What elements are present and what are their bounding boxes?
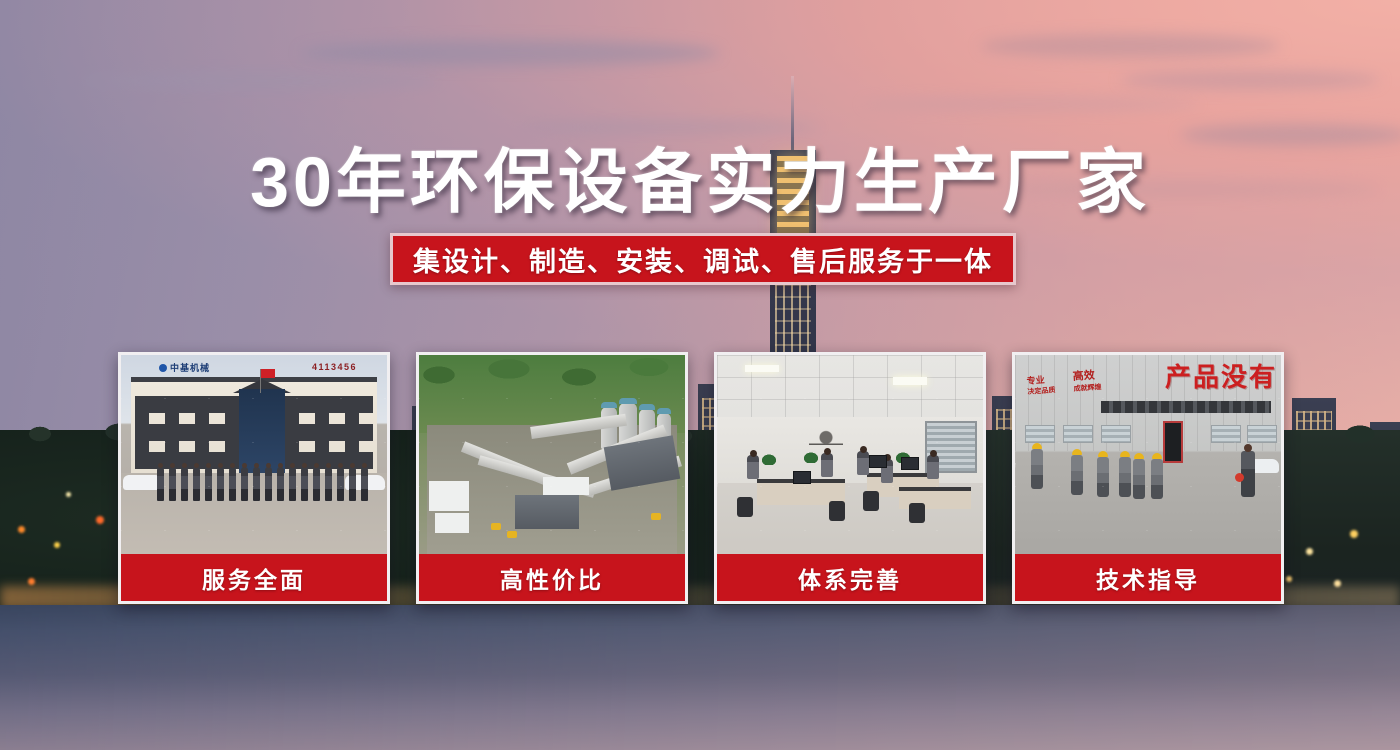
factory-window — [1101, 425, 1131, 443]
page-title: 30年环保设备实力生产厂家 — [0, 126, 1400, 227]
hard-hat-icon — [1152, 453, 1162, 459]
feature-card-system[interactable]: 体系完善 — [714, 352, 986, 604]
slogan-mid-main: 高效 — [1072, 369, 1095, 383]
potted-plant — [759, 449, 779, 465]
staff-lineup — [157, 467, 368, 501]
wall-slogan-mid: 高效 成就辉煌 — [1072, 366, 1102, 394]
factory-window — [1247, 425, 1277, 443]
worker — [1133, 459, 1145, 499]
worker — [1151, 459, 1163, 499]
cloud — [980, 34, 1280, 58]
photo-company-building: 中基机械 4113456 — [121, 355, 387, 554]
factory-door — [1163, 421, 1183, 463]
head — [1244, 444, 1252, 452]
excavator — [507, 531, 517, 538]
feature-card-value[interactable]: 高性价比 — [416, 352, 688, 604]
phone-number-text: 4113456 — [312, 362, 357, 372]
potted-plant — [801, 447, 821, 463]
factory-window — [1063, 425, 1093, 443]
plant-shed — [515, 495, 579, 529]
cloud — [80, 72, 440, 90]
company-sign-text: 中基机械 — [170, 361, 210, 374]
river-water — [0, 605, 1400, 750]
chair — [737, 497, 753, 517]
photo-production-plant — [419, 355, 685, 554]
card-caption: 体系完善 — [717, 554, 983, 601]
worker — [1071, 455, 1083, 495]
monitor — [793, 471, 811, 484]
card-caption: 服务全面 — [121, 554, 387, 601]
factory-window — [1211, 425, 1241, 443]
employee — [821, 453, 833, 477]
worker — [1097, 457, 1109, 497]
employee — [857, 451, 869, 475]
slogan-mid-sub: 成就辉煌 — [1073, 382, 1102, 394]
feature-card-list: 中基机械 4113456 服务全面 — [118, 352, 1284, 604]
worker — [1031, 449, 1043, 489]
card-caption: 高性价比 — [419, 554, 685, 601]
employee — [747, 455, 759, 479]
photo-office-interior — [717, 355, 983, 554]
photo-worker-briefing: 产品没有 专业 决定品质 高效 成就辉煌 — [1015, 355, 1281, 554]
factory-window — [1025, 425, 1055, 443]
supervisor — [1241, 451, 1255, 497]
ceiling-light — [893, 377, 927, 385]
promo-banner: 30年环保设备实力生产厂家 集设计、制造、安装、调试、售后服务于一体 中基机械 … — [0, 0, 1400, 750]
employee — [927, 455, 939, 479]
ceiling-light — [745, 365, 779, 372]
slogan-left-sub: 决定品质 — [1027, 385, 1056, 397]
cloud — [1120, 70, 1380, 90]
hard-hat-icon — [1098, 451, 1108, 457]
hard-hat-icon — [1032, 443, 1042, 449]
plant-hall — [543, 477, 589, 495]
excavator — [651, 513, 661, 520]
slogan-left-main: 专业 — [1026, 375, 1045, 386]
national-flag — [261, 369, 275, 378]
subtitle-text: 集设计、制造、安装、调试、售后服务于一体 — [413, 240, 993, 279]
hard-hat-icon — [1120, 451, 1130, 457]
company-logo-icon — [159, 364, 167, 372]
wall-signage-strip — [1101, 401, 1271, 413]
company-sign: 中基机械 — [159, 361, 210, 374]
monitor — [901, 457, 919, 470]
card-caption: 技术指导 — [1015, 554, 1281, 601]
monitor — [869, 455, 887, 468]
feature-card-service[interactable]: 中基机械 4113456 服务全面 — [118, 352, 390, 604]
chair — [909, 503, 925, 523]
cloud — [860, 96, 1200, 112]
worker — [1119, 457, 1131, 497]
hard-hat-icon — [1072, 449, 1082, 455]
chair — [863, 491, 879, 511]
glass-entrance — [239, 389, 285, 473]
wall-slogan-left: 专业 决定品质 — [1026, 372, 1056, 397]
cloud — [300, 40, 720, 66]
chair — [829, 501, 845, 521]
feature-card-training[interactable]: 产品没有 专业 决定品质 高效 成就辉煌 — [1012, 352, 1284, 604]
excavator — [491, 523, 501, 530]
red-helmet-icon — [1235, 473, 1244, 482]
plant-office — [435, 513, 469, 533]
wall-headline-text: 产品没有 — [1165, 357, 1277, 394]
hard-hat-icon — [1134, 453, 1144, 459]
plant-office — [429, 481, 469, 511]
subtitle-bar: 集设计、制造、安装、调试、售后服务于一体 — [390, 233, 1016, 285]
